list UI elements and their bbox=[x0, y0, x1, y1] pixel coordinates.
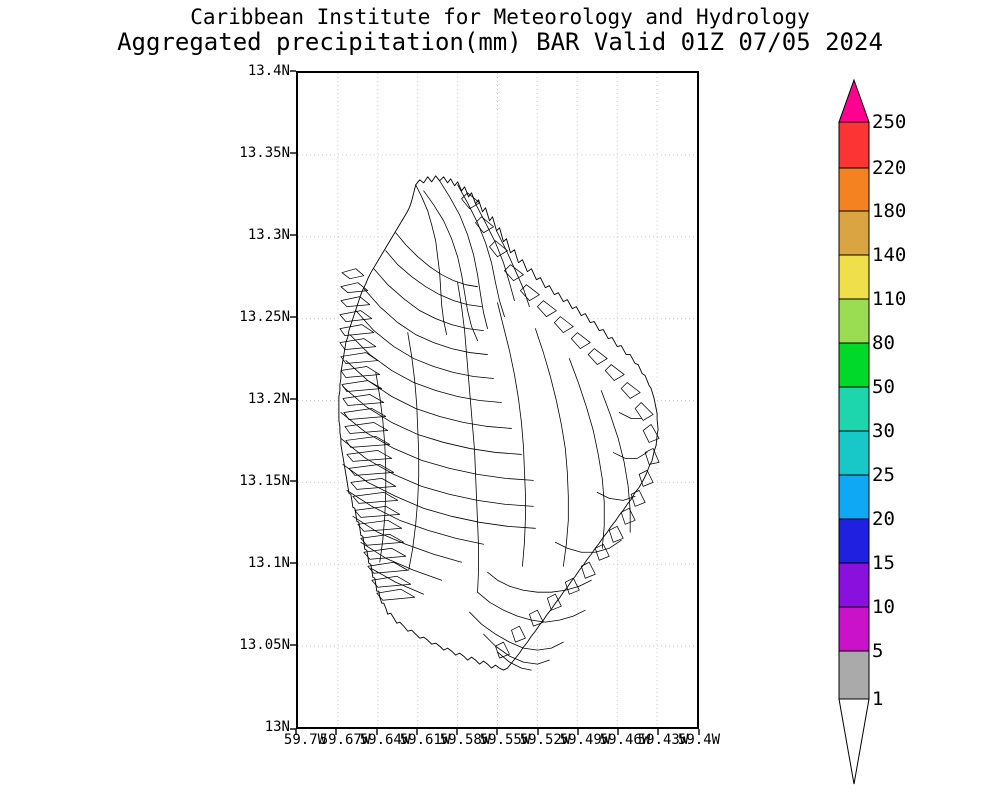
colorbar-swatch-140-180 bbox=[839, 211, 869, 255]
colorbar-tick-label: 140 bbox=[872, 244, 906, 266]
colorbar-tick-label: 80 bbox=[872, 332, 895, 354]
colorbar-tick-label: 110 bbox=[872, 288, 906, 310]
colorbar-swatch-20-25 bbox=[839, 475, 869, 519]
colorbar-tick-label: 50 bbox=[872, 376, 895, 398]
map-plot-area[interactable] bbox=[296, 71, 699, 729]
y-tick-label: 13.3N bbox=[248, 227, 290, 243]
colorbar-tick-label: 5 bbox=[872, 640, 883, 662]
colorbar-tick-label: 1 bbox=[872, 688, 883, 710]
colorbar-tick-label: 25 bbox=[872, 464, 895, 486]
colorbar-swatch-above-250 bbox=[839, 80, 869, 122]
colorbar-swatch-10-15 bbox=[839, 563, 869, 607]
colorbar-tick-label: 30 bbox=[872, 420, 895, 442]
colorbar-swatch-220-250 bbox=[839, 122, 869, 168]
y-tick-label: 13.15N bbox=[239, 473, 290, 489]
colorbar-swatch-80-110 bbox=[839, 299, 869, 343]
colorbar-swatch-15-20 bbox=[839, 519, 869, 563]
colorbar-tick-labels: 250 220 180 140 110 80 50 30 25 20 15 10… bbox=[872, 84, 962, 724]
title-institute: Caribbean Institute for Meteorology and … bbox=[0, 6, 1000, 29]
title-product: Aggregated precipitation(mm) BAR Valid 0… bbox=[0, 29, 1000, 56]
colorbar-tick-label: 180 bbox=[872, 200, 906, 222]
meteogram-map-page: Caribbean Institute for Meteorology and … bbox=[0, 0, 1000, 800]
x-tick-label: 59.4W bbox=[678, 732, 720, 748]
y-axis-labels: 13.4N 13.35N 13.3N 13.25N 13.2N 13.15N 1… bbox=[240, 71, 290, 729]
precipitation-colorbar[interactable]: 250 220 180 140 110 80 50 30 25 20 15 10… bbox=[838, 84, 870, 724]
y-tick-label: 13.05N bbox=[239, 637, 290, 653]
page-title: Caribbean Institute for Meteorology and … bbox=[0, 6, 1000, 56]
colorbar-swatch-25-30 bbox=[839, 431, 869, 475]
colorbar-swatches bbox=[838, 84, 870, 724]
colorbar-swatch-5-10 bbox=[839, 607, 869, 651]
colorbar-tick-label: 15 bbox=[872, 552, 895, 574]
y-tick-label: 13.1N bbox=[248, 555, 290, 571]
colorbar-tick-label: 10 bbox=[872, 596, 895, 618]
y-tick-label: 13.25N bbox=[239, 309, 290, 325]
y-tick-label: 13.4N bbox=[248, 63, 290, 79]
colorbar-tick-label: 250 bbox=[872, 111, 906, 133]
colorbar-tick-label: 20 bbox=[872, 508, 895, 530]
colorbar-swatch-50-80 bbox=[839, 343, 869, 387]
colorbar-swatch-30-50 bbox=[839, 387, 869, 431]
colorbar-swatch-1-5 bbox=[839, 651, 869, 699]
y-tick-label: 13.35N bbox=[239, 145, 290, 161]
colorbar-swatch-110-140 bbox=[839, 255, 869, 299]
barbados-coastline bbox=[298, 73, 697, 727]
colorbar-tick-label: 220 bbox=[872, 157, 906, 179]
colorbar-swatch-180-220 bbox=[839, 168, 869, 211]
y-tick-label: 13.2N bbox=[248, 391, 290, 407]
